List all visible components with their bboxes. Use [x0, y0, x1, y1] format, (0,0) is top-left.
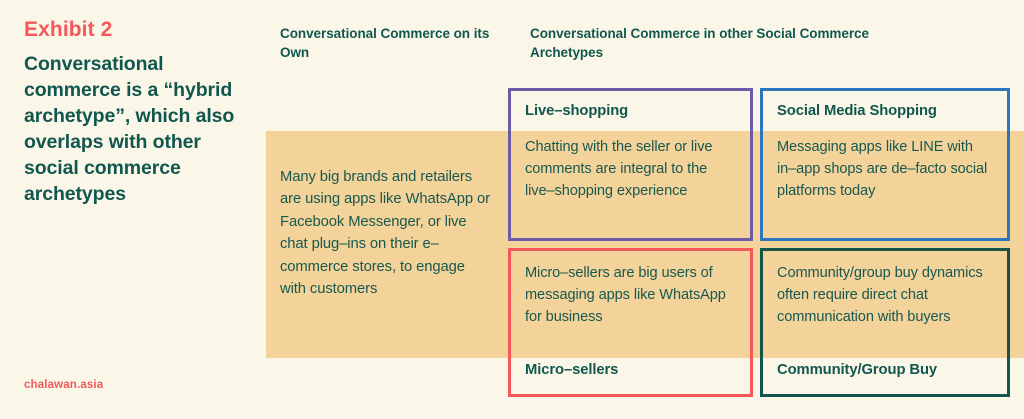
source-attribution: chalawan.asia [24, 379, 103, 391]
archetype-title-community-group-buy: Community/Group Buy [763, 362, 1007, 380]
exhibit-canvas: Exhibit 2 Conversational commerce is a “… [0, 0, 1024, 419]
archetype-card-social-media-shopping: Social Media Shopping Messaging apps lik… [760, 88, 1010, 241]
archetype-card-live-shopping: Live–shopping Chatting with the seller o… [508, 88, 753, 241]
column-header-own: Conversational Commerce on its Own [280, 24, 490, 62]
archetype-body-community-group-buy: Community/group buy dynamics often requi… [763, 263, 1007, 329]
archetype-title-live-shopping: Live–shopping [511, 103, 750, 121]
archetype-card-community-group-buy: Community/group buy dynamics often requi… [760, 248, 1010, 397]
exhibit-number-label: Exhibit 2 [24, 18, 254, 41]
column-header-other-archetypes: Conversational Commerce in other Social … [530, 24, 910, 62]
archetype-title-social-media-shopping: Social Media Shopping [763, 103, 1007, 121]
page-title: Conversational commerce is a “hybrid arc… [24, 52, 254, 208]
column-body-own: Many big brands and retailers are using … [280, 166, 492, 301]
archetype-title-micro-sellers: Micro–sellers [511, 362, 750, 380]
archetype-body-social-media-shopping: Messaging apps like LINE with in–app sho… [763, 137, 1007, 203]
archetype-body-micro-sellers: Micro–sellers are big users of messaging… [511, 263, 750, 329]
exhibit-title-panel: Exhibit 2 Conversational commerce is a “… [24, 18, 254, 208]
archetype-card-micro-sellers: Micro–sellers are big users of messaging… [508, 248, 753, 397]
archetype-body-live-shopping: Chatting with the seller or live comment… [511, 137, 750, 203]
